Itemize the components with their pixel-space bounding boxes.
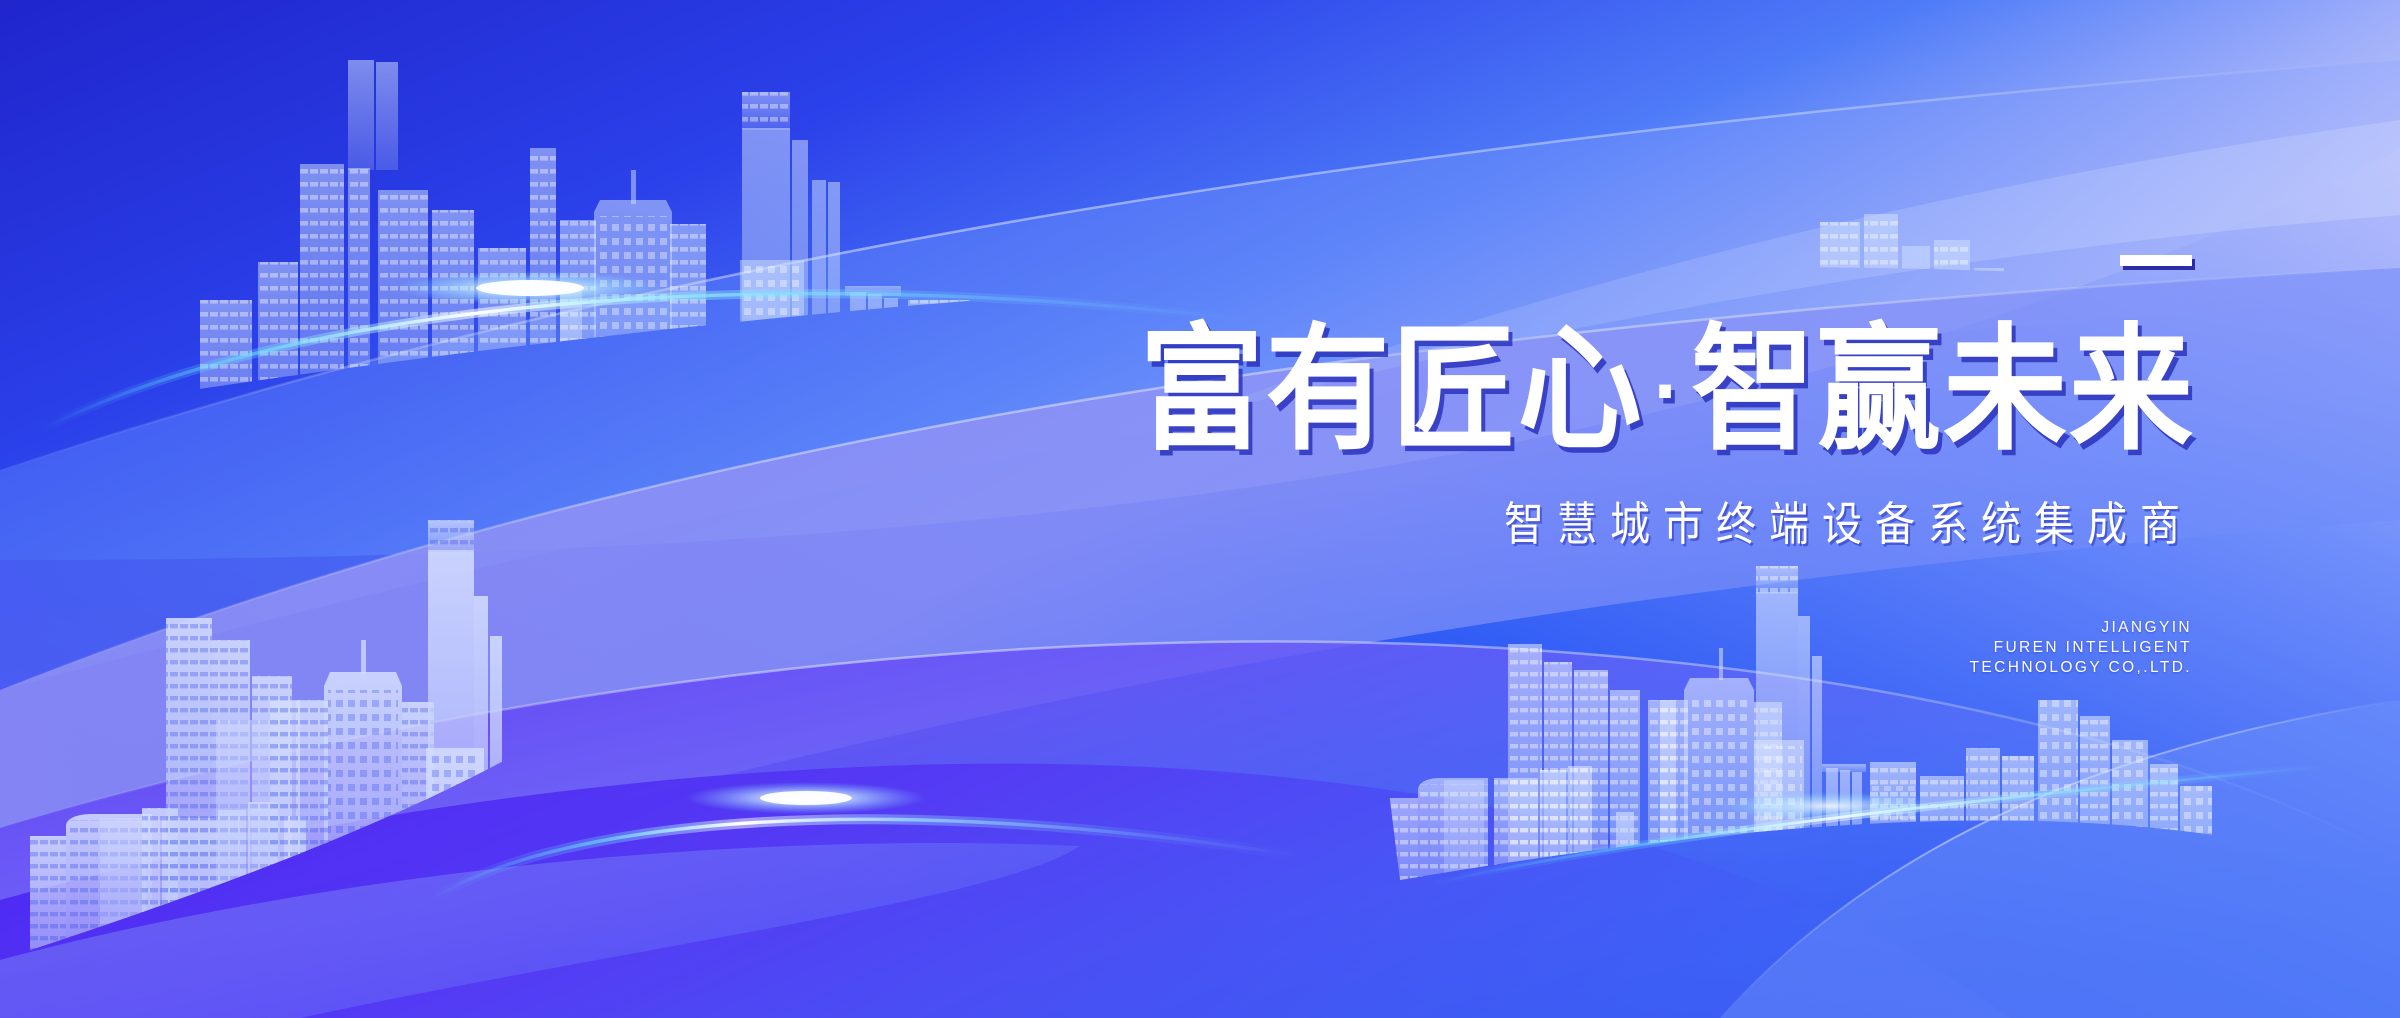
- headline-left: 富有匠心: [1140, 315, 1644, 467]
- headline-right: 智赢未来: [1691, 315, 2195, 467]
- page-title: 富有匠心·智赢未来: [795, 320, 2195, 462]
- headline-block: 富有匠心·智赢未来 智慧城市终端设备系统集成商 JIANGYIN FUREN I…: [795, 255, 2195, 678]
- company-name-en: JIANGYIN FUREN INTELLIGENT TECHNOLOGY CO…: [795, 618, 2195, 678]
- company-name-line3: TECHNOLOGY CO,.LTD.: [795, 658, 2192, 678]
- company-name-line2: FUREN INTELLIGENT: [795, 638, 2192, 658]
- page-subtitle: 智慧城市终端设备系统集成商: [795, 487, 2195, 554]
- accent-dash-icon: [2120, 255, 2192, 266]
- headline-separator: ·: [1644, 341, 1691, 441]
- banner-poster: 富有匠心·智赢未来 智慧城市终端设备系统集成商 JIANGYIN FUREN I…: [0, 0, 2400, 1018]
- company-name-line1: JIANGYIN: [795, 618, 2192, 638]
